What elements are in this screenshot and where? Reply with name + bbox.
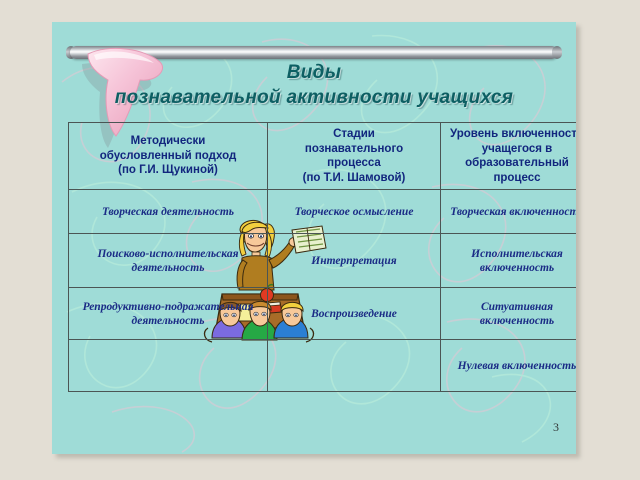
header-level-line-3: образовательный (446, 156, 576, 171)
table-header-approach: Методически обусловленный подход (по Г.И… (69, 123, 268, 190)
table-row: Творческая деятельность Творческое осмыс… (69, 190, 577, 234)
cell-stage-4 (268, 340, 441, 392)
title-line-1: Виды (287, 62, 342, 83)
header-approach-line-2: обусловленный подход (74, 149, 262, 164)
title-line-2: познавательной активности учащихся (52, 85, 576, 110)
cell-stage-3: Воспроизведение (268, 288, 441, 340)
table-header-row: Методически обусловленный подход (по Г.И… (69, 123, 577, 190)
presentation-slide: Виды познавательной активности учащихся (52, 22, 576, 454)
cell-level-4: Нулевая включенность (441, 340, 577, 392)
cell-level-1: Творческая включенность (441, 190, 577, 234)
header-stage-line-2: познавательного (273, 142, 435, 157)
activity-types-table: Методически обусловленный подход (по Г.И… (68, 122, 576, 392)
header-level-line-2: учащегося в (446, 142, 576, 157)
header-level-line-4: процесс (446, 171, 576, 186)
cell-approach-1: Творческая деятельность (69, 190, 268, 234)
header-stage-line-3: процесса (273, 156, 435, 171)
cell-approach-4 (69, 340, 268, 392)
table-row: Нулевая включенность (69, 340, 577, 392)
table-row: Поисково-исполнительская деятельность Ин… (69, 234, 577, 288)
page-number: 3 (544, 420, 568, 435)
slide-stage: Виды познавательной активности учащихся (0, 0, 640, 480)
header-approach-line-1: Методически (74, 134, 262, 149)
cell-stage-1: Творческое осмысление (268, 190, 441, 234)
page-title: Виды познавательной активности учащихся (52, 60, 576, 110)
cell-approach-3: Репродуктивно-подражательная деятельност… (69, 288, 268, 340)
header-level-line-1: Уровень включенности (446, 127, 576, 142)
cell-approach-2: Поисково-исполнительская деятельность (69, 234, 268, 288)
metallic-bar-cap-right (552, 46, 562, 59)
header-stage-line-4: (по Т.И. Шамовой) (273, 171, 435, 186)
cell-level-2: Исполнительская включенность (441, 234, 577, 288)
table-header-stage: Стадии познавательного процесса (по Т.И.… (268, 123, 441, 190)
cell-level-3: Ситуативная включенность (441, 288, 577, 340)
header-stage-line-1: Стадии (273, 127, 435, 142)
table-row: Репродуктивно-подражательная деятельност… (69, 288, 577, 340)
cell-stage-2: Интерпретация (268, 234, 441, 288)
header-approach-line-3: (по Г.И. Щукиной) (74, 163, 262, 178)
table-header-level: Уровень включенности учащегося в образов… (441, 123, 577, 190)
